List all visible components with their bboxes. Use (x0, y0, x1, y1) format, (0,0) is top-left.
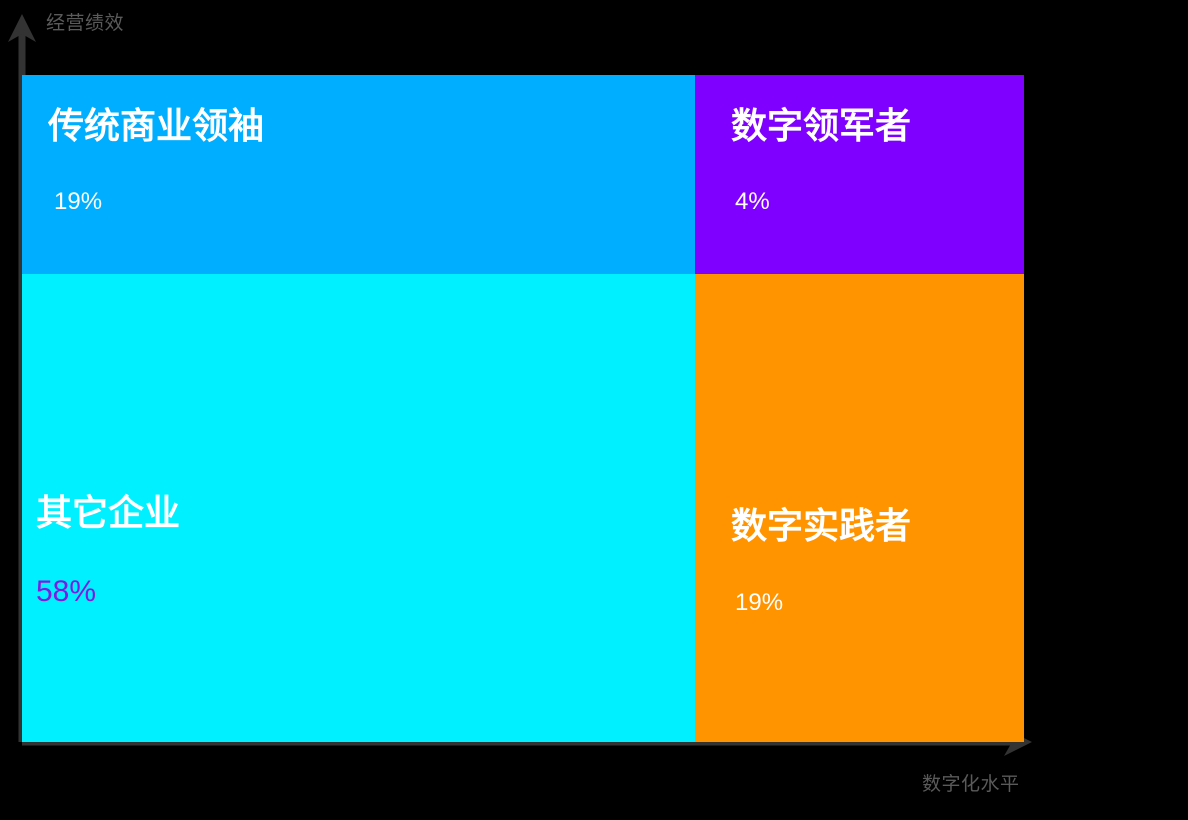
quadrant-title: 传统商业领袖 (48, 108, 264, 144)
quadrant-traditional-business-leaders[interactable]: 传统商业领袖 19% (22, 75, 695, 274)
quadrant-title: 数字实践者 (731, 508, 911, 544)
quadrant-value: 58% (36, 577, 96, 607)
quadrant-chart-canvas: 经营绩效 数字化水平 传统商业领袖 19% 数字领军者 4% 其它企业 58% … (0, 0, 1188, 820)
arrow-up-icon (8, 14, 36, 42)
quadrant-title: 数字领军者 (731, 108, 911, 144)
quadrant-value: 19% (735, 591, 783, 615)
quadrant-value: 4% (735, 190, 770, 214)
quadrant-grid: 传统商业领袖 19% 数字领军者 4% 其它企业 58% 数字实践者 19% (22, 75, 1024, 742)
x-axis-label: 数字化水平 (922, 775, 1020, 794)
quadrant-title: 其它企业 (36, 495, 180, 531)
quadrant-digital-practitioners[interactable]: 数字实践者 19% (695, 274, 1024, 742)
quadrant-digital-leaders[interactable]: 数字领军者 4% (695, 75, 1024, 274)
quadrant-value: 19% (54, 190, 102, 214)
y-axis-label: 经营绩效 (46, 14, 124, 33)
quadrant-other-enterprises[interactable]: 其它企业 58% (22, 274, 695, 742)
